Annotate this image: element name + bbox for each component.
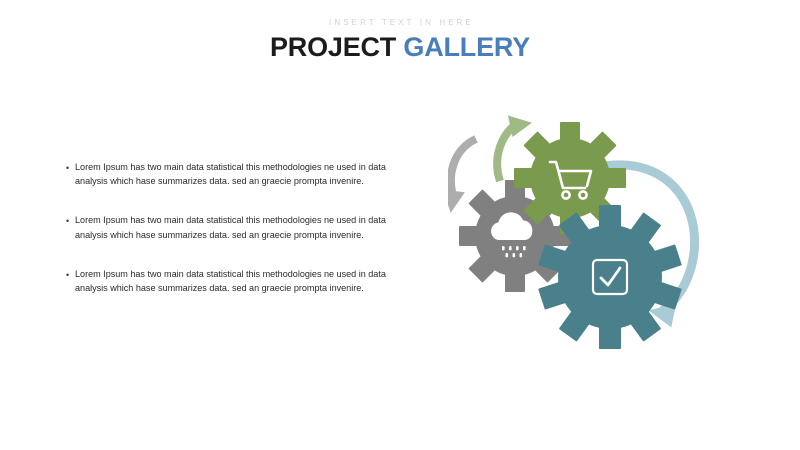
bullet-marker-icon: • xyxy=(66,160,75,175)
list-item: • Lorem Ipsum has two main data statisti… xyxy=(66,160,406,188)
bullet-marker-icon: • xyxy=(66,213,75,228)
title-word-primary: PROJECT xyxy=(270,32,396,62)
bullet-marker-icon: • xyxy=(66,267,75,282)
bullet-text: Lorem Ipsum has two main data statistica… xyxy=(75,213,406,241)
slide-header: INSERT TEXT IN HERE PROJECT GALLERY xyxy=(0,18,800,62)
gear-diagram xyxy=(448,105,788,365)
list-item: • Lorem Ipsum has two main data statisti… xyxy=(66,267,406,295)
bullet-list: • Lorem Ipsum has two main data statisti… xyxy=(66,160,406,295)
bullet-text: Lorem Ipsum has two main data statistica… xyxy=(75,160,406,188)
page-title: PROJECT GALLERY xyxy=(0,32,800,62)
bullet-text: Lorem Ipsum has two main data statistica… xyxy=(75,267,406,295)
title-word-accent: GALLERY xyxy=(403,32,530,62)
eyebrow-text: INSERT TEXT IN HERE xyxy=(0,18,800,28)
list-item: • Lorem Ipsum has two main data statisti… xyxy=(66,213,406,241)
